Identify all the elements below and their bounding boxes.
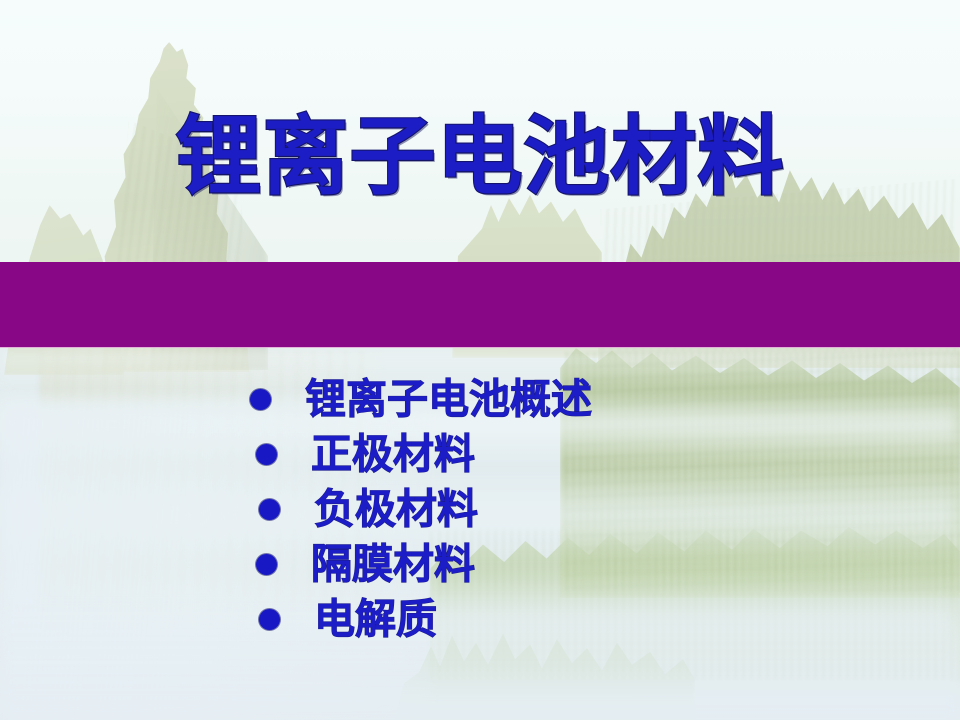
- list-item-label: 负极材料: [314, 489, 478, 530]
- list-item[interactable]: 正极材料: [256, 427, 890, 481]
- purple-banner-bar: [0, 262, 960, 347]
- filled-circle-bullet-icon: [256, 554, 277, 575]
- list-item[interactable]: 负极材料: [259, 482, 890, 536]
- list-item[interactable]: 隔膜材料: [256, 537, 890, 591]
- list-item-label: 电解质: [314, 599, 437, 640]
- filled-circle-bullet-icon: [250, 389, 271, 410]
- slide-title: 锂离子电池材料: [0, 112, 960, 202]
- filled-circle-bullet-icon: [256, 444, 277, 465]
- list-item-label: 正极材料: [311, 434, 475, 475]
- list-item-label: 隔膜材料: [311, 544, 475, 585]
- list-item-label: 锂离子电池概述: [305, 379, 592, 420]
- list-item[interactable]: 锂离子电池概述: [250, 372, 890, 426]
- filled-circle-bullet-icon: [259, 609, 280, 630]
- filled-circle-bullet-icon: [259, 499, 280, 520]
- presentation-slide: 锂离子电池材料 锂离子电池概述 正极材料 负极材料 隔膜材料 电解质: [0, 0, 960, 720]
- bullet-list: 锂离子电池概述 正极材料 负极材料 隔膜材料 电解质: [250, 372, 890, 647]
- list-item[interactable]: 电解质: [259, 592, 890, 646]
